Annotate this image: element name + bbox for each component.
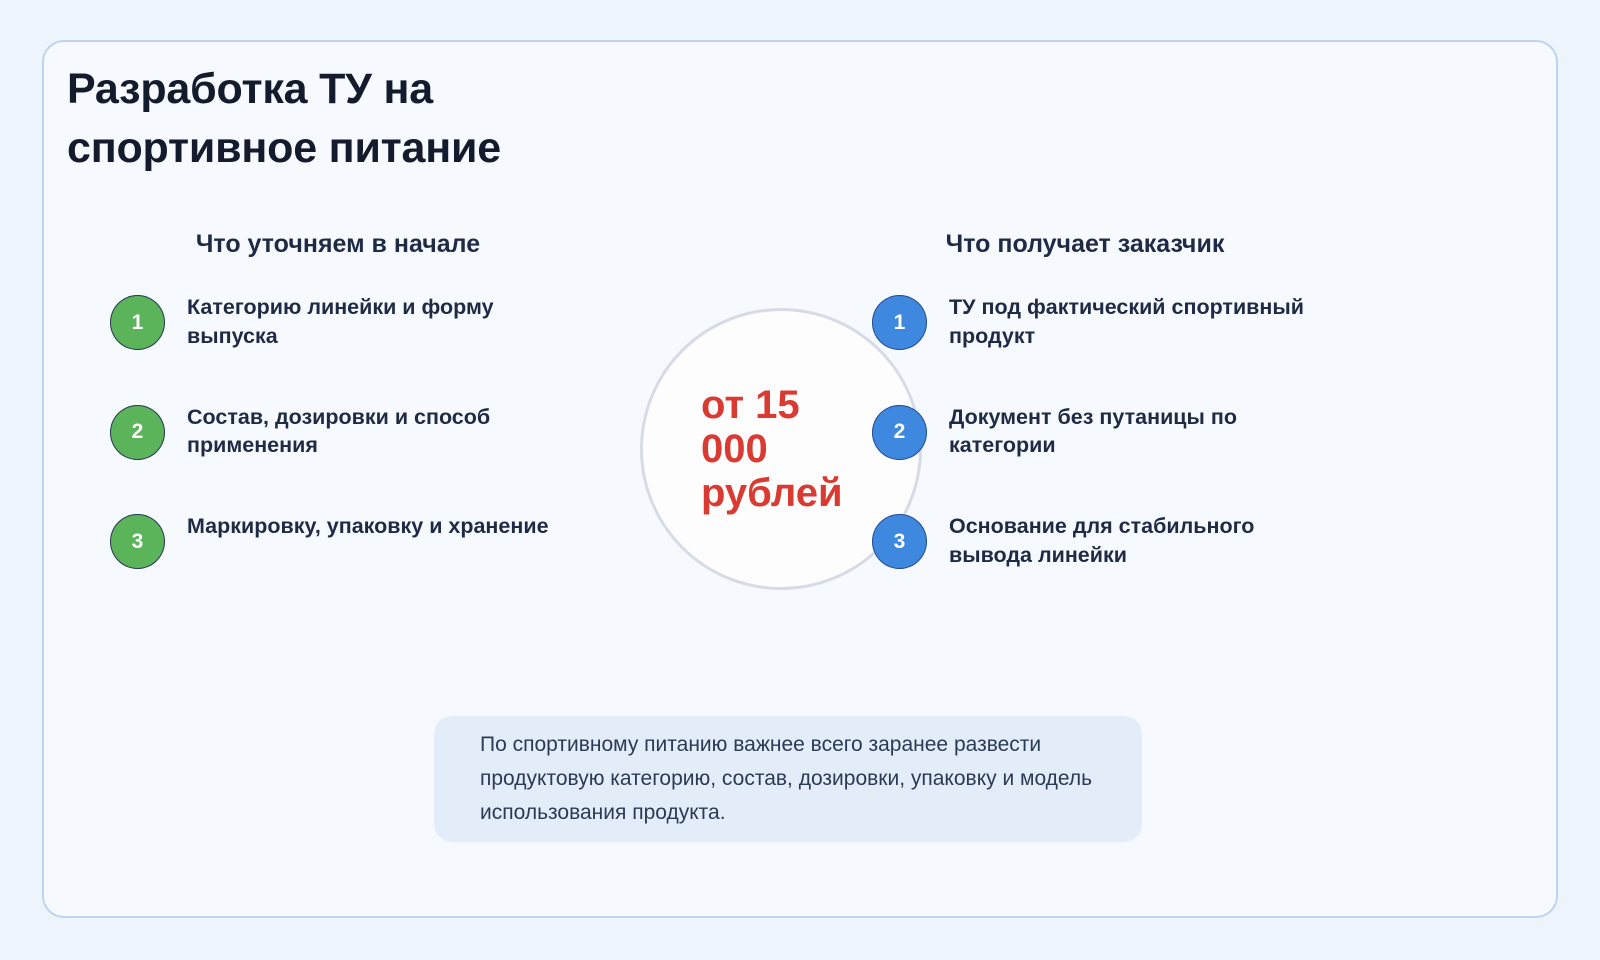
column-right-heading: Что получает заказчик [872, 230, 1352, 259]
two-column-section: Что уточняем в начале 1 Категорию линейк… [0, 230, 1600, 660]
list-item-label: Основание для стабильного вывода линейки [949, 512, 1319, 570]
column-left-list: 1 Категорию линейки и форму выпуска 2 Со… [110, 293, 590, 569]
step-number-badge: 2 [872, 405, 927, 460]
step-number-badge: 1 [872, 295, 927, 350]
list-item: 3 Маркировку, упаковку и хранение [110, 512, 590, 569]
summary-note: По спортивному питанию важнее всего зара… [434, 716, 1142, 842]
infographic-slide: Разработка ТУ на спортивное питание Что … [0, 0, 1600, 960]
list-item-label: ТУ под фактический спортивный продукт [949, 293, 1319, 351]
list-item: 1 ТУ под фактический спортивный продукт [872, 293, 1352, 351]
step-number-badge: 3 [110, 514, 165, 569]
list-item-label: Состав, дозировки и способ применения [187, 403, 577, 461]
list-item: 1 Категорию линейки и форму выпуска [110, 293, 590, 351]
list-item-label: Документ без путаницы по категории [949, 403, 1319, 461]
column-left: Что уточняем в начале 1 Категорию линейк… [110, 230, 590, 569]
step-number-badge: 2 [110, 405, 165, 460]
column-right: Что получает заказчик 1 ТУ под фактическ… [872, 230, 1352, 570]
list-item: 3 Основание для стабильного вывода линей… [872, 512, 1352, 570]
list-item: 2 Документ без путаницы по категории [872, 403, 1352, 461]
list-item-label: Маркировку, упаковку и хранение [187, 512, 549, 541]
price-label: от 15 000 рублей [701, 383, 861, 515]
page-title: Разработка ТУ на спортивное питание [67, 60, 687, 179]
step-number-badge: 1 [110, 295, 165, 350]
step-number-badge: 3 [872, 514, 927, 569]
list-item: 2 Состав, дозировки и способ применения [110, 403, 590, 461]
column-left-heading: Что уточняем в начале [110, 230, 590, 259]
summary-note-text: По спортивному питанию важнее всего зара… [434, 728, 1142, 830]
column-right-list: 1 ТУ под фактический спортивный продукт … [872, 293, 1352, 570]
list-item-label: Категорию линейки и форму выпуска [187, 293, 577, 351]
